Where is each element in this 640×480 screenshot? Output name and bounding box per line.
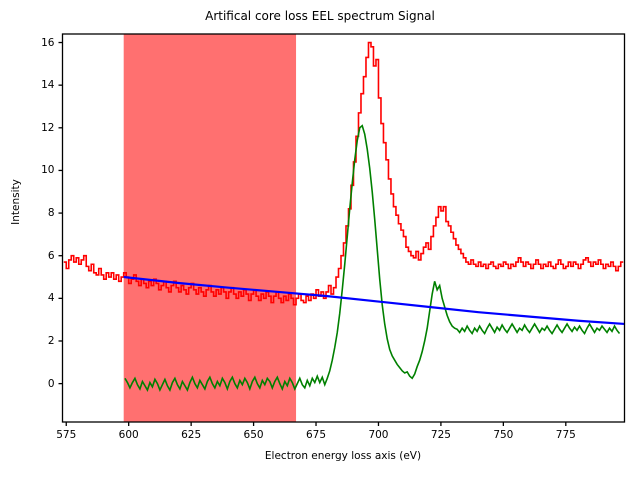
x-tick-label: 625 bbox=[181, 429, 201, 441]
y-axis-label: Intensity bbox=[10, 162, 22, 242]
x-tick-label: 675 bbox=[306, 429, 326, 441]
y-tick-label: 12 bbox=[27, 122, 55, 134]
plot-area bbox=[0, 0, 640, 480]
y-tick-label: 16 bbox=[27, 37, 55, 49]
x-tick-label: 750 bbox=[493, 429, 513, 441]
y-tick-label: 10 bbox=[27, 164, 55, 176]
y-tick-label: 8 bbox=[27, 207, 55, 219]
x-tick-label: 600 bbox=[119, 429, 139, 441]
x-tick-label: 725 bbox=[431, 429, 451, 441]
y-tick-label: 2 bbox=[27, 335, 55, 347]
figure-canvas: Artifical core loss EEL spectrum Signal … bbox=[0, 0, 640, 480]
x-axis-label: Electron energy loss axis (eV) bbox=[62, 450, 624, 462]
y-tick-label: 0 bbox=[27, 378, 55, 390]
background-fit-span bbox=[124, 34, 296, 422]
y-tick-label: 14 bbox=[27, 79, 55, 91]
y-tick-label: 4 bbox=[27, 292, 55, 304]
x-tick-label: 575 bbox=[56, 429, 76, 441]
y-tick-label: 6 bbox=[27, 250, 55, 262]
x-tick-label: 650 bbox=[244, 429, 264, 441]
x-tick-label: 700 bbox=[368, 429, 388, 441]
x-tick-label: 775 bbox=[556, 429, 576, 441]
